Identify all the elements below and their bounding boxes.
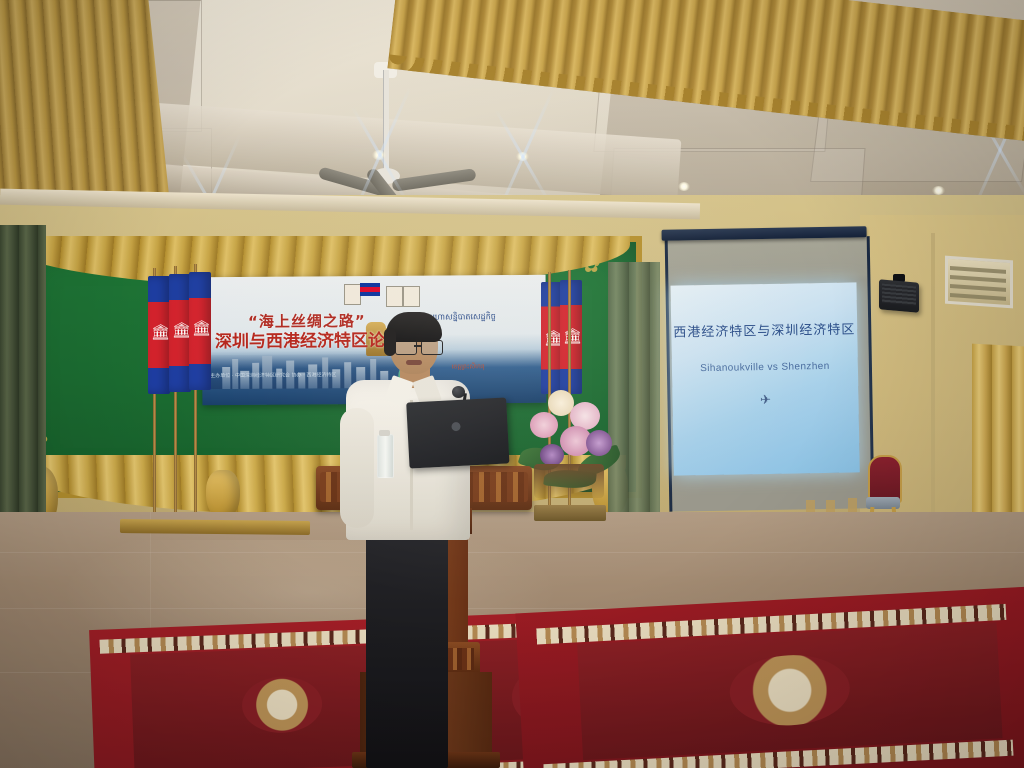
banner-portrait-photo [344, 284, 361, 305]
floral-arrangement [520, 386, 628, 506]
laptop[interactable] [406, 397, 510, 474]
glasses-icon [395, 340, 417, 355]
presenter-mouth [406, 360, 422, 365]
stage-step [534, 505, 606, 521]
spotlight-icon [678, 182, 690, 191]
slide-title: 西港经济特区与深圳经济特区 [671, 318, 857, 340]
projection-screen[interactable]: 西港经济特区与深圳经济特区 Sihanoukville vs Shenzhen … [662, 226, 872, 518]
cambodian-flag: 🏛 [560, 280, 582, 394]
banner-cambodian-flag [360, 283, 380, 296]
angkor-temple-emblem: 🏛 [544, 328, 559, 350]
banner-portrait-photo [386, 286, 403, 307]
wall-speaker [879, 279, 919, 312]
speaker-grill [882, 284, 916, 306]
water-bottle[interactable] [377, 434, 394, 478]
banner-small-print: 主办单位 · 中国深圳经济特区研究会 协办 · 西港经济特区 [210, 372, 340, 380]
glasses-bridge [414, 345, 422, 347]
glasses-icon [421, 340, 443, 355]
flower-vase [534, 464, 604, 498]
slide-subtitle: Sihanoukville vs Shenzhen [672, 360, 858, 374]
spotlight-icon [516, 152, 529, 161]
louvered-window [945, 256, 1013, 309]
slide-mark-icon: ✈ [672, 390, 858, 409]
spotlight-icon [932, 186, 945, 195]
carpet-secondary [515, 587, 1024, 768]
side-curtain-left [0, 225, 46, 525]
presenter [338, 316, 470, 768]
angkor-temple-emblem: 🏛 [151, 322, 166, 344]
presenter-arm [340, 408, 374, 528]
laptop-lid [406, 397, 509, 468]
bottle-cap [379, 430, 390, 436]
spotlight-icon [372, 150, 386, 160]
banner-portrait-photo [403, 286, 420, 307]
microphone-icon[interactable] [452, 386, 465, 398]
presenter-trousers [366, 534, 448, 768]
conference-hall-photo: ✿ ✿ ✿ ✿ “海上丝绸之路” 深圳 [0, 0, 1024, 768]
cambodian-flag: 🏛 [148, 276, 170, 394]
cambodian-flag: 🏛 [169, 274, 191, 392]
chair-back [868, 455, 902, 503]
stage-step [120, 519, 310, 535]
projected-slide: 西港经济特区与深圳经济特区 Sihanoukville vs Shenzhen … [670, 282, 859, 475]
angkor-temple-emblem: 🏛 [192, 318, 207, 340]
angkor-temple-emblem: 🏛 [172, 320, 187, 342]
cambodian-flag: 🏛 [189, 272, 211, 390]
presenter-hair-side [384, 328, 396, 356]
wall-conduit [931, 233, 935, 533]
